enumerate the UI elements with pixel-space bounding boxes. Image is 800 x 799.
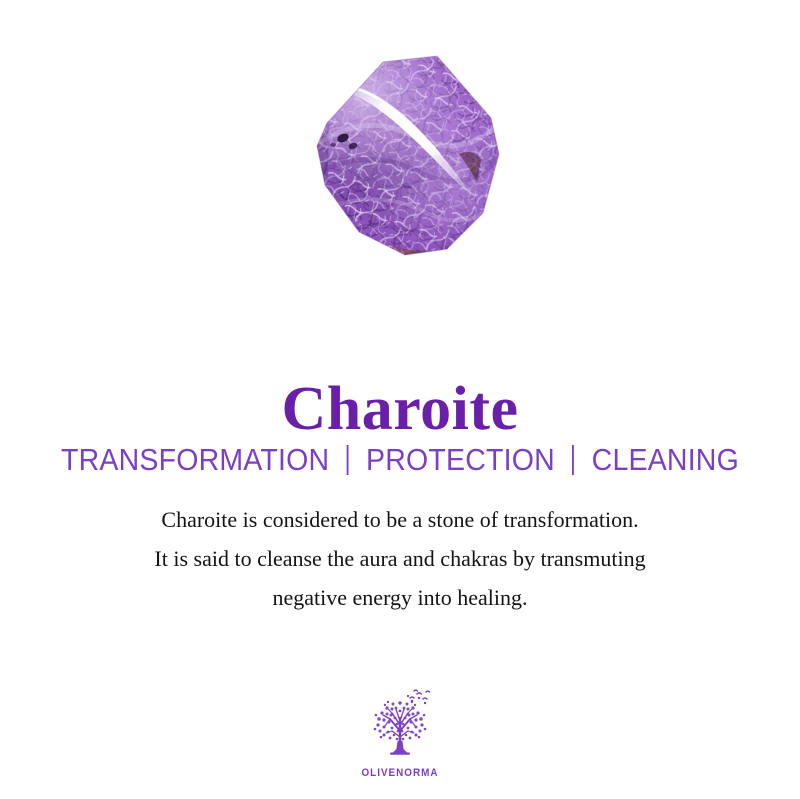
crystal-info-card: Charoite TRANSFORMATIONPROTECTIONCLEANIN… bbox=[0, 0, 800, 799]
crystal-keywords: TRANSFORMATIONPROTECTIONCLEANING bbox=[32, 441, 768, 479]
tree-foliage bbox=[374, 690, 430, 755]
keyword-separator-1 bbox=[347, 445, 349, 475]
charoite-stone-image bbox=[287, 46, 513, 262]
tree-trunk bbox=[392, 741, 408, 754]
brand-wordmark: OLIVENORMA bbox=[40, 767, 760, 779]
keyword-transformation: TRANSFORMATION bbox=[61, 442, 329, 477]
keyword-separator-2 bbox=[572, 445, 574, 475]
keyword-cleaning: CLEANING bbox=[592, 442, 739, 477]
crystal-description: Charoite is considered to be a stone of … bbox=[0, 500, 800, 617]
tree-of-life-icon bbox=[362, 685, 438, 761]
charoite-stone-graphic bbox=[287, 46, 513, 262]
tree-base bbox=[390, 753, 410, 755]
keyword-protection: PROTECTION bbox=[366, 442, 555, 477]
stone-body bbox=[287, 46, 513, 262]
description-line-1: Charoite is considered to be a stone of … bbox=[0, 500, 800, 539]
description-line-2: It is said to cleanse the aura and chakr… bbox=[0, 539, 800, 578]
description-line-3: negative energy into healing. bbox=[0, 578, 800, 617]
crystal-title: Charoite bbox=[0, 375, 800, 443]
brand-logo: OLIVENORMA bbox=[0, 685, 800, 779]
